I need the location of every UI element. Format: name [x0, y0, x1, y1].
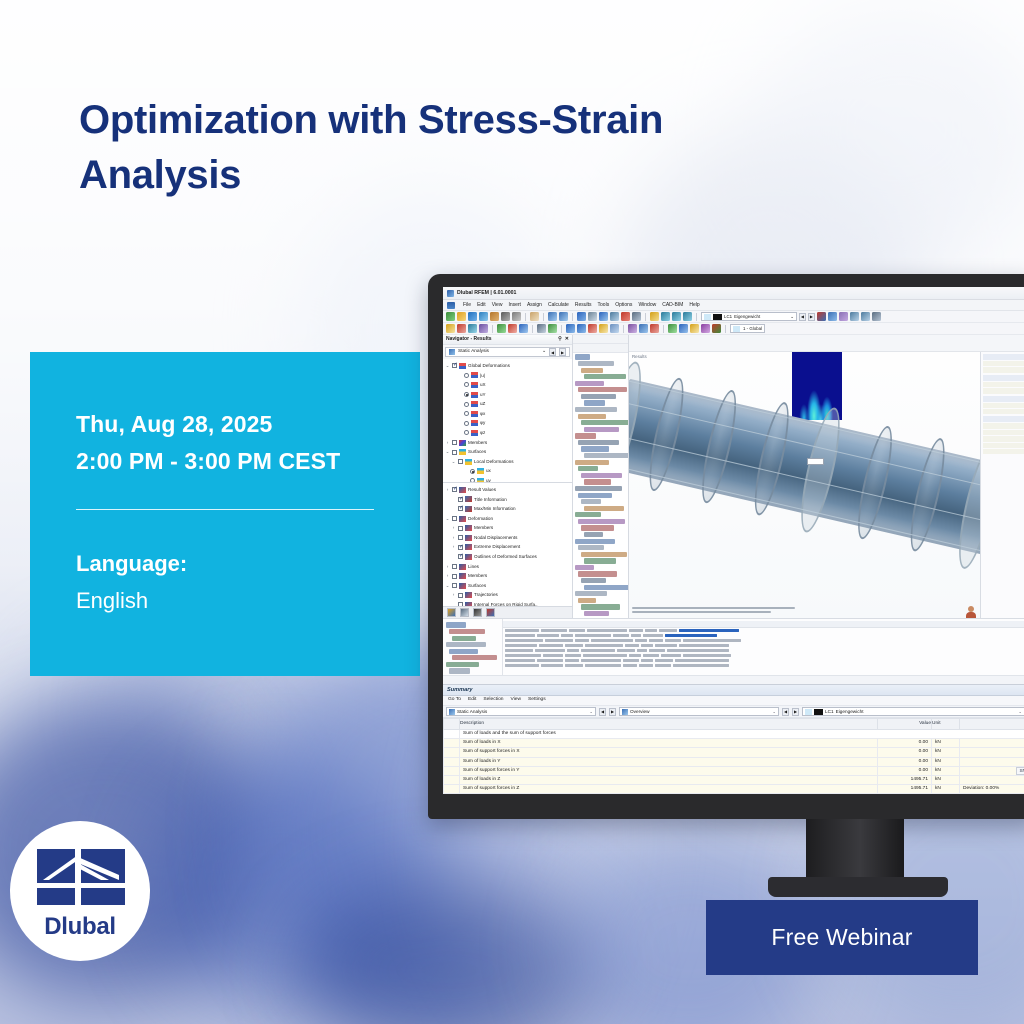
visibility-icon[interactable] [817, 312, 826, 321]
results-grid-cell [613, 634, 629, 637]
solid-icon[interactable] [519, 324, 528, 333]
secondary-tree-item[interactable] [584, 611, 609, 616]
results-grid-cell [667, 649, 729, 652]
print-options-icon[interactable] [512, 312, 521, 321]
line-load-icon[interactable] [577, 324, 586, 333]
results-icon [459, 573, 466, 579]
chevron-down-icon[interactable]: ⌄ [542, 349, 546, 355]
navigator-tree-item[interactable]: ›Extreme Displacement [445, 543, 572, 553]
view-pane-3-icon[interactable] [599, 312, 608, 321]
tree-item-label: uY [480, 392, 486, 398]
navigator-tree-item[interactable]: uZ [445, 399, 572, 409]
properties-row[interactable] [983, 449, 1024, 454]
undo-icon[interactable] [548, 312, 557, 321]
properties-group-header [983, 416, 1024, 422]
zoom-fit-icon[interactable] [683, 312, 692, 321]
expander-right-icon[interactable]: › [445, 564, 450, 570]
navigator-tree-display[interactable]: ›Result ValuesTitle InformationMax/Min I… [443, 482, 572, 606]
results-tree-item[interactable] [452, 655, 497, 660]
summary-menu-edit[interactable]: Edit [468, 697, 476, 703]
summary-group-row: Sum of loads and the sum of support forc… [444, 730, 1024, 739]
navigator-tree-item[interactable]: Max/Min Information [445, 504, 572, 514]
expander-down-icon[interactable]: ⌄ [445, 516, 450, 522]
tree-item-checkbox[interactable] [452, 564, 457, 569]
secondary-tree-item[interactable] [575, 460, 609, 465]
tree-item-checkbox[interactable] [458, 535, 463, 540]
expander-right-icon[interactable]: › [451, 535, 456, 541]
app-menu-icon [447, 302, 455, 309]
summary-analysis-prev-button[interactable]: ◀ [599, 708, 606, 716]
results-grid-cell [639, 664, 653, 667]
zoom-in-icon[interactable] [661, 312, 670, 321]
model-value-tooltip [807, 458, 824, 465]
secondary-tree-item[interactable] [575, 539, 615, 544]
secondary-tree-item[interactable] [575, 381, 604, 386]
node-icon[interactable] [446, 324, 455, 333]
app-toolbar-secondary[interactable]: 1 - Global [443, 323, 1024, 335]
results-icon[interactable] [650, 324, 659, 333]
save-as-icon[interactable] [479, 312, 488, 321]
strain-icon[interactable] [701, 324, 710, 333]
secondary-tree-item[interactable] [581, 394, 616, 399]
results-grid-cell [643, 634, 663, 637]
tree-item-checkbox[interactable] [452, 516, 457, 521]
clipping-icon[interactable] [828, 312, 837, 321]
grid-icon[interactable] [632, 312, 641, 321]
navigator-tree-item[interactable]: ⌄Deformation [445, 514, 572, 524]
tree-item-checkbox[interactable] [452, 487, 457, 492]
navigator-tree-item[interactable]: ›Members [445, 571, 572, 581]
print-preview-icon[interactable] [490, 312, 499, 321]
tree-item-label: Global Deformations [468, 363, 510, 369]
results-grid-cell [505, 644, 537, 647]
results-grid-cell [583, 654, 627, 657]
results-grid-cell [665, 634, 717, 637]
free-load-icon[interactable] [599, 324, 608, 333]
navigator-tree-item[interactable]: ›Nodal Displacements [445, 533, 572, 543]
results-tree-item[interactable] [449, 668, 470, 673]
app-toolbar-primary[interactable]: LC1 Eigengewicht ⌄ ◀ ▶ [443, 311, 1024, 323]
summary-table-header-row: Description Value Unit [444, 719, 1024, 730]
toolbar-separator [543, 313, 544, 321]
menu-item-calculate[interactable]: Calculate [548, 302, 569, 308]
open-icon[interactable] [457, 312, 466, 321]
tree-item-checkbox[interactable] [458, 602, 463, 606]
summary-row-description: Sum of support forces in X [460, 748, 878, 757]
tree-item-radio[interactable] [464, 421, 469, 426]
properties-row[interactable] [983, 409, 1024, 414]
navigator-tab-display-icon[interactable] [447, 608, 456, 617]
secondary-tree-item[interactable] [578, 571, 617, 576]
navigator-tree-item[interactable]: ⌄Surfaces [445, 581, 572, 591]
free-webinar-button[interactable]: Free Webinar [706, 900, 978, 975]
view-pane-1-icon[interactable] [577, 312, 586, 321]
results-grid-cell [575, 634, 611, 637]
nodal-load-icon[interactable] [566, 324, 575, 333]
secondary-tree-item[interactable] [575, 591, 607, 596]
summary-analysis-selector[interactable]: Static Analysis ⌄ [446, 707, 596, 717]
load-case-selector[interactable]: LC1 Eigengewicht ⌄ [701, 312, 797, 321]
secondary-tree-item[interactable] [581, 446, 609, 451]
secondary-tree-item[interactable] [578, 387, 627, 392]
tree-item-radio[interactable] [464, 430, 469, 435]
member-icon[interactable] [497, 324, 506, 333]
summary-menu-settings[interactable]: Settings [528, 697, 546, 703]
properties-row[interactable] [983, 382, 1024, 387]
summary-table[interactable]: Description Value Unit Sum of loads and … [443, 718, 1024, 794]
tree-item-label: uZ [480, 401, 485, 407]
summary-row-index [444, 748, 460, 757]
tree-item-label: Title Information [474, 497, 507, 503]
summary-menu-selection[interactable]: Selection [483, 697, 503, 703]
summary-row-value: 1495.71 [878, 785, 932, 794]
tree-item-radio[interactable] [464, 402, 469, 407]
secondary-tree-item[interactable] [578, 545, 604, 550]
expander-right-icon[interactable]: › [445, 440, 450, 446]
navigator-tabs[interactable] [443, 606, 572, 618]
chevron-down-icon[interactable]: ⌄ [589, 709, 593, 714]
summary-col-note [960, 719, 1024, 730]
results-grid-cell [587, 629, 627, 632]
results-tree-item[interactable] [446, 642, 486, 647]
navigator-tree-item[interactable]: φz [445, 428, 572, 438]
tree-item-label: Lines [468, 564, 479, 570]
results-icon [459, 487, 466, 493]
navigator-tree-item[interactable]: ›Members [445, 438, 572, 448]
expander-down-icon[interactable]: ⌄ [445, 583, 450, 589]
summary-row-description: Sum of loads in Y [460, 757, 878, 766]
menu-item-tools[interactable]: Tools [598, 302, 610, 308]
summary-row-index [444, 739, 460, 748]
menu-item-results[interactable]: Results [575, 302, 592, 308]
secondary-tree-item[interactable] [581, 368, 603, 373]
analysis-type-selector[interactable]: Static Analysis ⌄ ◀ ▶ [445, 347, 570, 357]
surface-icon [477, 468, 484, 474]
internal-forces-icon[interactable] [679, 324, 688, 333]
properties-row[interactable] [983, 423, 1024, 428]
navigator-tree-item[interactable]: ⌄Surfaces [445, 447, 572, 457]
secondary-tree-item[interactable] [584, 453, 629, 458]
properties-row[interactable] [983, 436, 1024, 441]
zoom-out-icon[interactable] [672, 312, 681, 321]
secondary-tree-item[interactable] [575, 407, 617, 412]
properties-row[interactable] [983, 430, 1024, 435]
expander-down-icon[interactable]: ⌄ [451, 459, 456, 465]
results-grid-cell [683, 654, 731, 657]
tree-item-checkbox[interactable] [458, 526, 463, 531]
secondary-tree-item[interactable] [578, 493, 612, 498]
stress-icon[interactable] [690, 324, 699, 333]
tree-item-checkbox[interactable] [458, 459, 463, 464]
results-table-strip[interactable] [443, 618, 1024, 684]
tree-item-radio[interactable] [464, 392, 469, 397]
tree-item-checkbox[interactable] [452, 574, 457, 579]
secondary-tree-item[interactable] [578, 519, 625, 524]
tree-item-radio[interactable] [470, 469, 475, 474]
view-pane-2-icon[interactable] [588, 312, 597, 321]
printer-icon[interactable] [501, 312, 510, 321]
surface-icon[interactable] [508, 324, 517, 333]
secondary-tree-item[interactable] [584, 479, 611, 484]
expander-right-icon[interactable]: › [451, 525, 456, 531]
menu-item-edit[interactable]: Edit [477, 302, 486, 308]
properties-row[interactable] [983, 388, 1024, 393]
tree-item-radio[interactable] [464, 411, 469, 416]
navigator-tree-item[interactable]: ›Trajectories [445, 591, 572, 601]
load-case-prev-button[interactable]: ◀ [799, 313, 806, 321]
expander-right-icon[interactable]: › [451, 544, 456, 550]
navigator-tree-item[interactable]: |u| [445, 371, 572, 381]
arc-icon[interactable] [479, 324, 488, 333]
notes-icon[interactable] [530, 312, 539, 321]
secondary-tree-item[interactable] [575, 512, 601, 517]
properties-row[interactable] [983, 361, 1024, 366]
tree-item-checkbox[interactable] [458, 506, 463, 511]
app-workarea: Navigator - Results ⚲ ✕ Static Analysis … [443, 335, 1024, 618]
results-grid-cell [539, 644, 563, 647]
secondary-tree-item[interactable] [578, 440, 619, 445]
navigator-tab-results-icon[interactable] [486, 608, 495, 617]
navigator-tree-item[interactable]: Title Information [445, 495, 572, 505]
tree-item-checkbox[interactable] [452, 583, 457, 588]
secondary-tree-item[interactable] [584, 558, 616, 563]
navigator-tree-item[interactable]: ›Lines [445, 562, 572, 572]
section-icon[interactable] [839, 312, 848, 321]
color-scale-icon[interactable] [712, 324, 721, 333]
expander-down-icon[interactable]: ⌄ [445, 449, 450, 455]
zoom-area-icon[interactable] [650, 312, 659, 321]
model-settings-icon[interactable] [872, 312, 881, 321]
analysis-prev-button[interactable]: ◀ [549, 348, 556, 356]
results-grid-row[interactable] [503, 663, 1024, 668]
navigator-tree-item[interactable]: ⌄Global Deformations [445, 361, 572, 371]
secondary-tree-item[interactable] [581, 604, 620, 609]
summary-table-row[interactable]: Sum of support forces in X0.00kN [444, 748, 1024, 757]
summary-view-prev-button[interactable]: ◀ [782, 708, 789, 716]
secondary-tree-item[interactable] [584, 532, 603, 537]
navigator-tab-camera-icon[interactable] [473, 608, 482, 617]
secondary-tree-item[interactable] [575, 433, 596, 438]
expander-right-icon[interactable]: › [451, 592, 456, 598]
toolbar-separator [725, 325, 726, 333]
summary-analysis-next-button[interactable]: ▶ [609, 708, 616, 716]
navigator-tree-item[interactable]: ux [445, 467, 572, 477]
coordinate-system-label: 1 - Global [743, 326, 762, 332]
results-grid-cell [505, 629, 539, 632]
model-viewport[interactable]: Results [629, 335, 1024, 618]
line-options-icon[interactable] [468, 324, 477, 333]
summary-loadcase-code: LC1 [825, 709, 834, 715]
results-grid-cell [505, 664, 539, 667]
menu-item-cadbim[interactable]: CAD-BIM [662, 302, 683, 308]
navigator-tree-item[interactable]: φx [445, 409, 572, 419]
secondary-tree-item[interactable] [584, 427, 619, 432]
tree-item-checkbox[interactable] [458, 554, 463, 559]
menu-item-options[interactable]: Options [615, 302, 632, 308]
summary-table-row[interactable]: Sum of loads in Y0.00kN [444, 757, 1024, 766]
summary-row-note: Deviation: 0.00% [960, 785, 1024, 794]
tree-item-label: φz [480, 430, 485, 436]
results-tree-item[interactable] [449, 629, 485, 634]
properties-panel[interactable] [980, 352, 1024, 618]
chevron-down-icon[interactable]: ⌄ [1018, 709, 1022, 714]
results-grid-cell [565, 659, 579, 662]
viewport-canvas[interactable]: Results [629, 352, 980, 618]
summary-filter-bar[interactable]: Static Analysis ⌄ ◀ ▶ Overview ⌄ ◀ ▶ [443, 706, 1024, 718]
summary-menu-goto[interactable]: Go To [448, 697, 461, 703]
expander-down-icon[interactable]: ⌄ [445, 363, 450, 369]
tree-item-checkbox[interactable] [452, 450, 457, 455]
menu-item-insert[interactable]: Insert [508, 302, 521, 308]
secondary-tree-item[interactable] [584, 374, 626, 379]
imperfection-icon[interactable] [610, 324, 619, 333]
properties-row[interactable] [983, 367, 1024, 372]
dlubal-bridge-icon [37, 849, 125, 905]
navigator-tree-item[interactable]: ›Result Values [445, 485, 572, 495]
viewport-toolbars[interactable] [629, 335, 1024, 352]
secondary-tree-item[interactable] [581, 499, 601, 504]
isometric-view-icon[interactable] [850, 312, 859, 321]
tree-item-checkbox[interactable] [452, 440, 457, 445]
secondary-navigator-toolbar[interactable] [573, 344, 628, 353]
summary-view-selector[interactable]: Overview ⌄ [619, 707, 779, 717]
expander-right-icon[interactable]: › [445, 573, 450, 579]
results-grid-cell [541, 629, 567, 632]
analysis-icon [449, 709, 455, 715]
navigator-tree-item[interactable]: ⌄Local Deformations [445, 457, 572, 467]
mesh-icon[interactable] [628, 324, 637, 333]
deformation-icon [471, 430, 478, 436]
secondary-tree-item[interactable] [581, 578, 606, 583]
results-grid-cell [505, 649, 533, 652]
secondary-tree-item[interactable] [578, 466, 598, 471]
secondary-tree-item[interactable] [584, 585, 629, 590]
tree-item-radio[interactable] [464, 373, 469, 378]
line-icon[interactable] [457, 324, 466, 333]
results-tree-item[interactable] [449, 649, 478, 654]
navigator-tree-results[interactable]: ⌄Global Deformations|u|uXuYuZφxφyφz›Memb… [443, 359, 572, 482]
summary-row-unit: kN [932, 775, 960, 784]
navigator-tab-views-icon[interactable] [460, 608, 469, 617]
tree-item-radio[interactable] [470, 478, 475, 482]
load-case-next-button[interactable]: ▶ [808, 313, 815, 321]
toolbar-separator [663, 325, 664, 333]
view-pane-4-icon[interactable] [610, 312, 619, 321]
navigator-tree-item[interactable]: φy [445, 419, 572, 429]
toolbar-separator [572, 313, 573, 321]
navigator-tree-item[interactable]: uX [445, 380, 572, 390]
deformation-icon [459, 363, 466, 369]
secondary-navigator-toolbar[interactable] [573, 335, 628, 344]
save-icon[interactable] [468, 312, 477, 321]
tree-item-radio[interactable] [464, 382, 469, 387]
secondary-tree-item[interactable] [578, 414, 606, 419]
summary-table-row[interactable]: Sum of support forces in Z1495.71kNDevia… [444, 785, 1024, 794]
navigator-tree-item[interactable]: ›Members [445, 523, 572, 533]
secondary-tree-item[interactable] [584, 506, 624, 511]
summary-menu-view[interactable]: View [511, 697, 522, 703]
summary-table-row[interactable]: Sum of loads in Z1495.71kN [444, 775, 1024, 784]
new-model-icon[interactable] [446, 312, 455, 321]
secondary-tree-item[interactable] [581, 552, 627, 557]
secondary-tree-item[interactable] [584, 400, 605, 405]
navigator-tree-item[interactable]: Outlines of Deformed Surfaces [445, 552, 572, 562]
surface-load-icon[interactable] [588, 324, 597, 333]
deformation-display-icon[interactable] [668, 324, 677, 333]
plan-view-icon[interactable] [861, 312, 870, 321]
secondary-tree-item[interactable] [575, 354, 590, 359]
results-grid-cell [545, 639, 573, 642]
support-icon[interactable] [537, 324, 546, 333]
coordinate-system-selector[interactable]: 1 - Global [730, 324, 765, 333]
results-grid-cell [629, 629, 643, 632]
summary-menubar[interactable]: Go To Edit Selection View Settings [443, 696, 1024, 706]
secondary-navigator-panel[interactable] [573, 335, 629, 618]
tree-item-checkbox[interactable] [458, 593, 463, 598]
chevron-down-icon[interactable]: ⌄ [790, 314, 794, 320]
menu-item-assign[interactable]: Assign [527, 302, 542, 308]
results-grid-cell [617, 649, 635, 652]
menu-item-window[interactable]: Window [638, 302, 656, 308]
summary-table-row[interactable]: Sum of loads in X0.00kN [444, 739, 1024, 748]
summary-table-row[interactable]: Sum of support forces in Y0.00kN [444, 766, 1024, 775]
results-tree-item[interactable] [446, 662, 479, 667]
pin-icon[interactable]: ⚲ [558, 336, 562, 342]
secondary-tree-item[interactable] [581, 473, 622, 478]
results-grid-cell [643, 654, 659, 657]
tree-item-checkbox[interactable] [452, 363, 457, 368]
summary-row-note [960, 748, 1024, 757]
summary-loadcase-selector[interactable]: LC1 Eigengewicht ⌄ [802, 707, 1024, 717]
secondary-tree-item[interactable] [575, 565, 594, 570]
secondary-tree-item[interactable] [578, 361, 614, 366]
properties-row[interactable] [983, 403, 1024, 408]
tree-item-label: Members [468, 440, 487, 446]
results-tree-item[interactable] [452, 636, 476, 641]
expander-right-icon[interactable]: › [445, 487, 450, 493]
chevron-down-icon[interactable]: ⌄ [772, 709, 776, 714]
secondary-tree-item[interactable] [581, 420, 629, 425]
secondary-tree-item[interactable] [578, 598, 596, 603]
summary-view-next-button[interactable]: ▶ [792, 708, 799, 716]
secondary-navigator-tree[interactable] [573, 354, 628, 618]
menu-item-view[interactable]: View [492, 302, 503, 308]
render-icon[interactable] [621, 312, 630, 321]
menu-item-file[interactable]: File [463, 302, 471, 308]
calculate-icon[interactable] [639, 324, 648, 333]
tree-item-label: Max/Min Information [474, 506, 516, 512]
results-strip-statusbar [443, 675, 1024, 684]
navigator-tree-item[interactable]: uY [445, 390, 572, 400]
results-icon [459, 583, 466, 589]
menu-item-help[interactable]: Help [689, 302, 699, 308]
redo-icon[interactable] [559, 312, 568, 321]
summary-col-unit: Unit [932, 719, 960, 730]
tree-item-checkbox[interactable] [458, 497, 463, 502]
nodal-support-icon[interactable] [548, 324, 557, 333]
secondary-tree-item[interactable] [581, 525, 614, 530]
results-grid-cell [581, 659, 621, 662]
properties-group-header [983, 396, 1024, 402]
secondary-tree-item[interactable] [575, 486, 622, 491]
close-icon[interactable]: ✕ [565, 336, 569, 342]
tree-item-checkbox[interactable] [458, 545, 463, 550]
results-grid-cell [585, 664, 621, 667]
properties-row[interactable] [983, 443, 1024, 448]
analysis-next-button[interactable]: ▶ [559, 348, 566, 356]
overview-icon [622, 709, 628, 715]
results-tree-item[interactable] [446, 622, 466, 627]
